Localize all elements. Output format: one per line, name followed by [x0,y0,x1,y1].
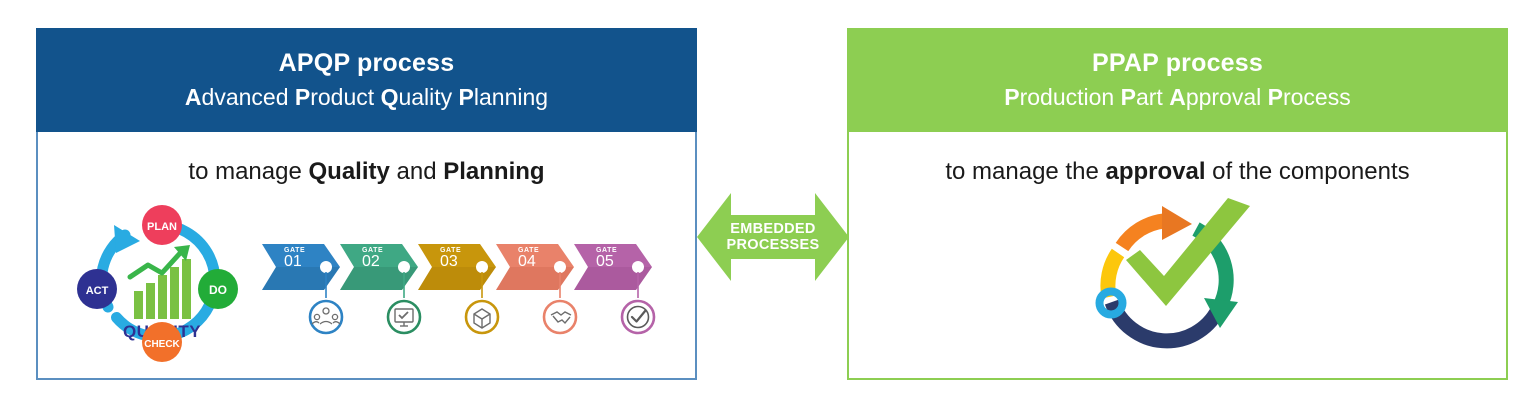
embedded-processes-connector: EMBEDDED PROCESSES [697,191,849,283]
apqp-body-bold-quality: Quality [309,158,390,185]
gate-icon-handshake-icon [544,301,576,333]
ppap-sub-cap-3: Approval [1169,84,1267,110]
svg-text:PLAN: PLAN [147,221,177,233]
apqp-body-bold-planning: Planning [443,158,544,185]
pdca-node-do: DO [198,269,238,309]
gate-chevron-04 [496,244,574,298]
gate-chevron-02 [340,244,418,298]
navy-arc [1112,302,1218,341]
gate-icon-check-circle-icon [622,301,654,333]
apqp-body-pre: to manage [188,158,308,185]
gate-icon-monitor-check-icon [388,301,420,333]
ppap-sub-cap-2: Part [1121,84,1170,110]
pdca-node-plan: PLAN [142,205,182,245]
apqp-panel-header: APQP process Advanced Product Quality Pl… [36,28,697,132]
gate-chevron-03 [418,244,496,298]
ppap-sub-cap-4: Process [1268,84,1351,110]
apqp-body-text: to manage Quality and Planning [38,132,695,186]
ppap-panel-header: PPAP process Production Part Approval Pr… [847,28,1508,132]
apqp-body-mid: and [390,158,443,185]
gate-icon-team-people-icon [310,301,342,333]
ppap-body-bold-approval: approval [1105,158,1205,185]
approval-check-cycle-icon [1078,198,1273,350]
ppap-body-pre: to manage the [945,158,1105,185]
gate-chevron-05 [574,244,652,298]
gate-chevron-sequence: GATE 01 GATE 02 GATE 03 GATE 04 GATE 05 [262,236,660,360]
pdca-node-act: ACT [77,269,117,309]
svg-text:DO: DO [209,283,227,297]
ppap-title: PPAP process [1092,47,1263,79]
pdca-quality-cycle-icon: QUALITY PLAN DO CHECK ACT [70,203,255,363]
ppap-sub-cap-1: Production [1004,84,1120,110]
ppap-body-text: to manage the approval of the components [849,132,1506,186]
apqp-sub-cap-2: Product [295,84,381,110]
orange-arrow-head [1162,206,1192,240]
double-arrow-icon [697,191,849,283]
quality-bar-chart [130,245,191,319]
apqp-sub-cap-3: Quality [381,84,459,110]
apqp-sub-cap-4: Planning [459,84,549,110]
gate-chevron-01 [262,244,340,298]
diagram-canvas: APQP process Advanced Product Quality Pl… [0,0,1536,410]
ppap-subtitle: Production Part Approval Process [1004,83,1350,112]
apqp-subtitle: Advanced Product Quality Planning [185,83,548,112]
svg-text:ACT: ACT [86,285,109,297]
apqp-title: APQP process [279,47,455,79]
gate-icon-package-box-icon [466,301,498,333]
svg-text:CHECK: CHECK [144,339,180,350]
pdca-node-check: CHECK [142,322,182,362]
orange-arc [1122,221,1164,247]
apqp-sub-cap-1: Advanced [185,84,295,110]
ppap-body-mid: of the components [1206,158,1410,185]
